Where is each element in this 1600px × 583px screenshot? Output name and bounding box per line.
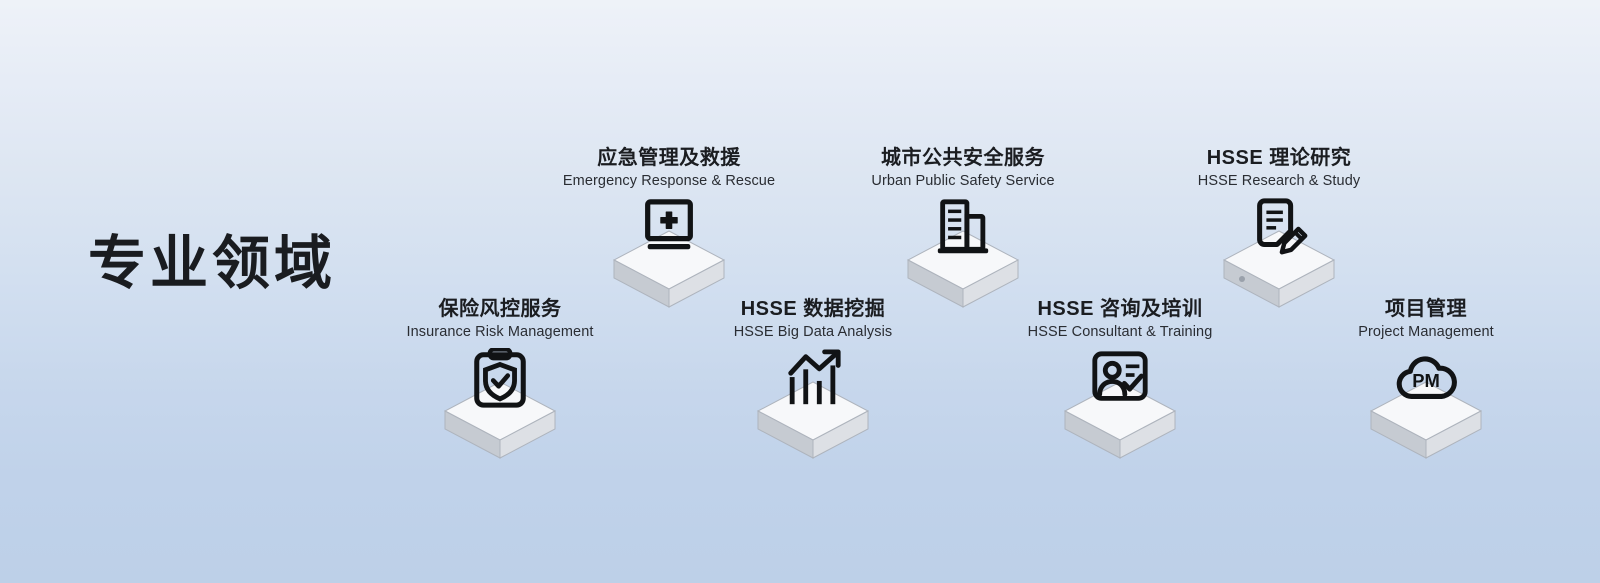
- domain-label-en: HSSE Consultant & Training: [970, 323, 1270, 342]
- domain-label-cn: 城市公共安全服务: [813, 145, 1113, 171]
- domain-item-project-management[interactable]: 项目管理Project Management PM: [1276, 296, 1576, 478]
- domain-label-en: HSSE Big Data Analysis: [663, 323, 963, 342]
- cloud-pm-icon: PM: [1395, 348, 1457, 410]
- person-id-card-check-icon: [1089, 348, 1151, 410]
- page-title: 专业领域: [88, 228, 336, 300]
- document-pencil-icon: [1248, 197, 1310, 259]
- domain-icon-pedestal[interactable]: PM: [1276, 348, 1576, 478]
- cloud-pm-label: PM: [1412, 370, 1440, 391]
- domain-label-cn: HSSE 理论研究: [1129, 145, 1429, 171]
- domain-label-cn: 应急管理及救援: [519, 145, 819, 171]
- domain-label-cn: HSSE 咨询及培训: [970, 296, 1270, 322]
- domain-label-cn: 保险风控服务: [350, 296, 650, 322]
- domain-icon-pedestal[interactable]: [970, 348, 1270, 478]
- domain-icon-pedestal[interactable]: [663, 348, 963, 478]
- domain-icon-pedestal[interactable]: [350, 348, 650, 478]
- city-buildings-icon: [932, 197, 994, 259]
- first-aid-monitor-icon: [638, 197, 700, 259]
- pedestal-dot: [1239, 276, 1245, 282]
- domain-item-hsse-big-data-analysis[interactable]: HSSE 数据挖掘HSSE Big Data Analysis: [663, 296, 963, 478]
- professional-domains-banner: 专业领域 应急管理及救援Emergency Response & Rescue …: [0, 0, 1600, 583]
- domain-label-en: HSSE Research & Study: [1129, 172, 1429, 191]
- domain-label-cn: 项目管理: [1276, 296, 1576, 322]
- domain-label-en: Emergency Response & Rescue: [519, 172, 819, 191]
- domain-label-en: Insurance Risk Management: [350, 323, 650, 342]
- bar-chart-trend-icon: [782, 348, 844, 410]
- domain-label-cn: HSSE 数据挖掘: [663, 296, 963, 322]
- domain-label-en: Urban Public Safety Service: [813, 172, 1113, 191]
- clipboard-shield-check-icon: [469, 348, 531, 410]
- domain-label-en: Project Management: [1276, 323, 1576, 342]
- domain-item-hsse-consultant-training[interactable]: HSSE 咨询及培训HSSE Consultant & Training: [970, 296, 1270, 478]
- domain-item-insurance-risk-management[interactable]: 保险风控服务Insurance Risk Management: [350, 296, 650, 478]
